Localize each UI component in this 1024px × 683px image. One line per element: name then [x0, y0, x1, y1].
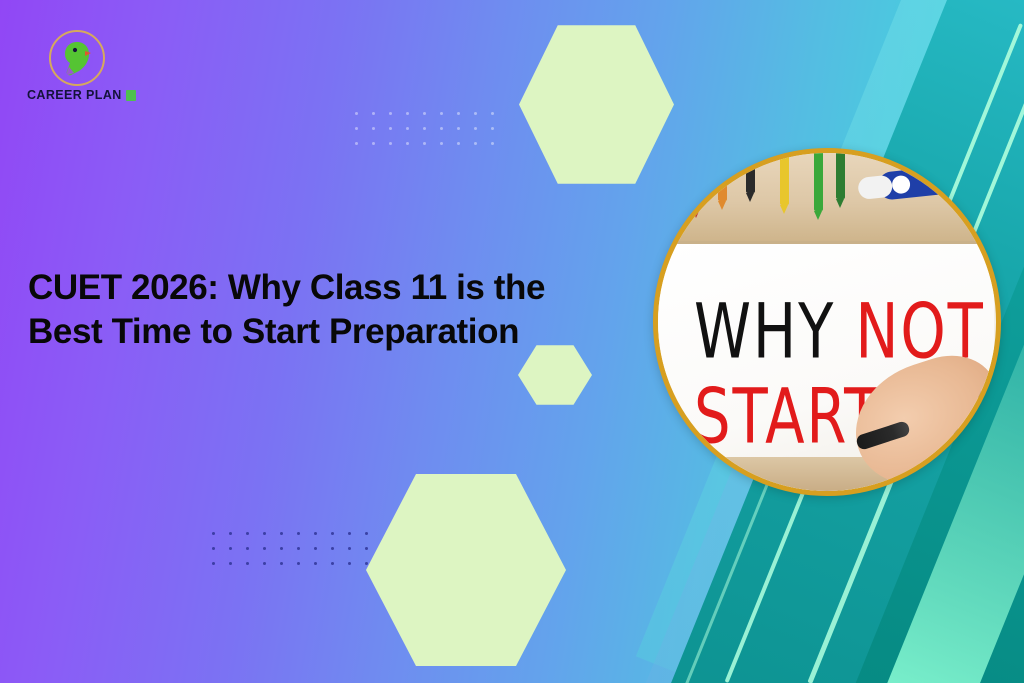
logo-wordmark: CAREER PLAN	[27, 88, 122, 102]
pencil-red	[692, 153, 701, 209]
marker-cap-dot	[891, 175, 911, 195]
logo-accent-square	[126, 90, 136, 101]
bird-icon	[57, 37, 99, 81]
whiteboard-line-1: WHY NOT	[694, 297, 973, 369]
hero-photo-circle: WHY NOT START NOW	[653, 148, 1001, 496]
pencil-green	[814, 153, 823, 211]
pencil-orange	[718, 153, 727, 201]
word-why: WHY	[694, 287, 835, 376]
desk-surface	[658, 153, 996, 245]
pencil-dark-green	[836, 153, 845, 199]
dot-grid-bottom	[212, 532, 382, 577]
page-title: CUET 2026: Why Class 11 is the Best Time…	[28, 266, 628, 355]
careerplan-logo[interactable]: CAREER PLAN	[27, 30, 142, 112]
dot-grid-top	[355, 112, 508, 157]
blue-marker-clip	[877, 165, 956, 201]
hexagon-bottom	[366, 470, 566, 670]
logo-text-row: CAREER PLAN	[27, 88, 136, 102]
word-start: START	[694, 372, 881, 461]
pencil-black	[746, 153, 755, 193]
pencil-yellow	[780, 153, 789, 205]
hexagon-top	[519, 22, 674, 187]
article-banner: CAREER PLAN CUET 2026: Why Class 11 is t…	[0, 0, 1024, 683]
